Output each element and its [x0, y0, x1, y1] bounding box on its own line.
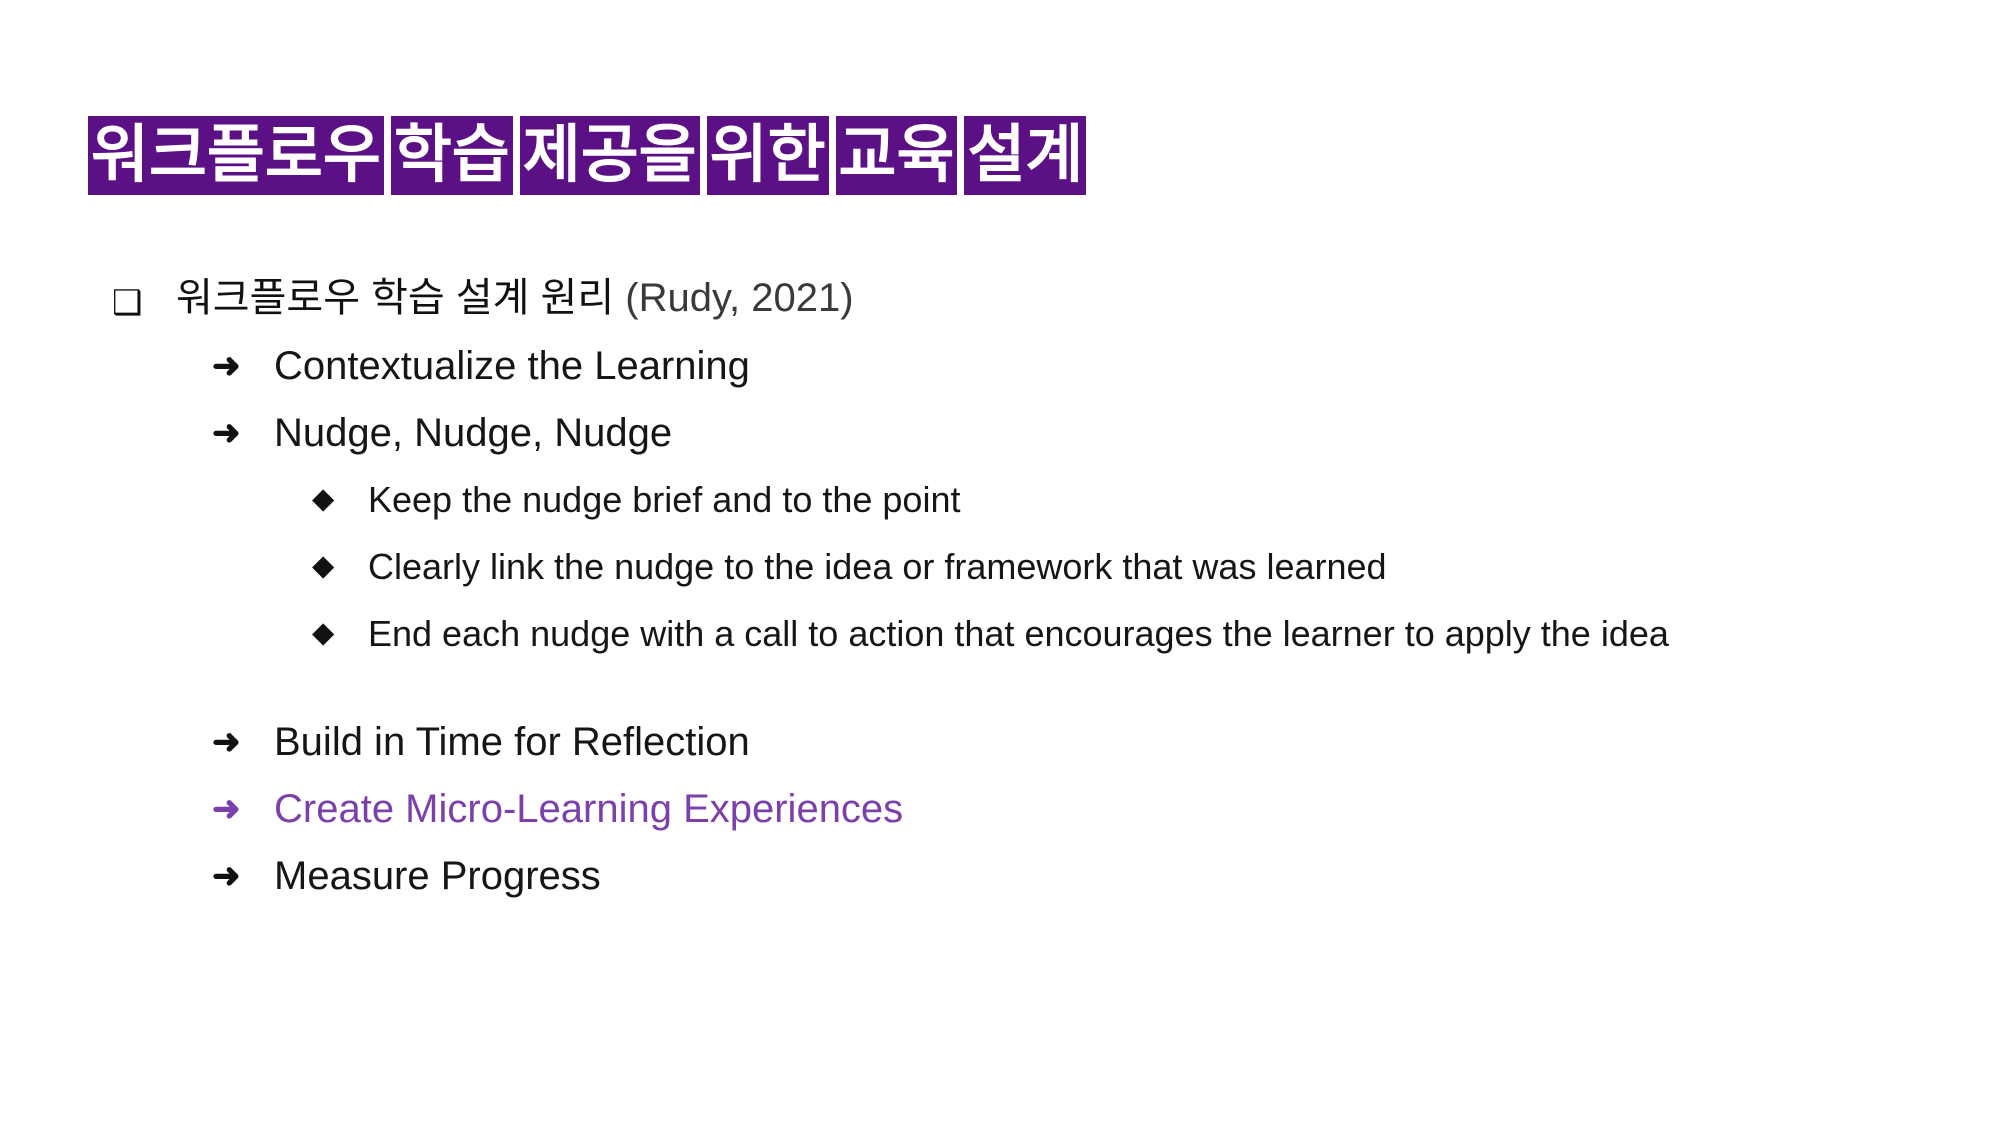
title-segment-2: 학습: [391, 116, 513, 195]
diamond-bullet-icon: ◆: [312, 472, 368, 527]
diamond-bullet-icon: ◆: [312, 606, 368, 661]
list-item-keep-the-nudge-brief: ◆ Keep the nudge brief and to the point: [0, 472, 2000, 539]
list-item-label: Nudge, Nudge, Nudge: [274, 405, 672, 462]
list-item-level1: ❑ 워크플로우 학습 설계 원리 (Rudy, 2021): [0, 268, 2000, 338]
title-segment-1: 워크플로우: [88, 116, 384, 195]
list-item-build-in-time-for-reflection: ➜ Build in Time for Reflection: [0, 714, 2000, 781]
list-item-label: Contextualize the Learning: [274, 338, 750, 395]
slide-body: ❑ 워크플로우 학습 설계 원리 (Rudy, 2021) ➜ Contextu…: [0, 268, 2000, 915]
right-arrow-bullet-icon: ➜: [212, 714, 274, 771]
page-title: 워크플로우학습제공을위한교육설계: [88, 113, 1086, 197]
hollow-square-bullet-icon: ❑: [112, 268, 176, 330]
list-item-label: Keep the nudge brief and to the point: [368, 472, 960, 527]
list-item-label: Create Micro-Learning Experiences: [274, 781, 903, 838]
right-arrow-bullet-icon: ➜: [212, 405, 274, 462]
list-item-label: Measure Progress: [274, 848, 601, 905]
title-segment-4: 위한: [707, 116, 829, 195]
list-item-end-each-nudge: ◆ End each nudge with a call to action t…: [0, 606, 2000, 714]
list-item-clearly-link-the-nudge: ◆ Clearly link the nudge to the idea or …: [0, 539, 2000, 606]
list-item-level1-label: 워크플로우 학습 설계 원리 (Rudy, 2021): [176, 268, 854, 328]
right-arrow-bullet-icon: ➜: [212, 848, 274, 905]
title-segment-5: 교육: [836, 116, 958, 195]
list-item-contextualize-the-learning: ➜ Contextualize the Learning: [0, 338, 2000, 405]
list-item-create-micro-learning-experiences: ➜ Create Micro-Learning Experiences: [0, 781, 2000, 848]
list-item-measure-progress: ➜ Measure Progress: [0, 848, 2000, 915]
title-segment-3: 제공을: [520, 116, 700, 195]
list-item-label: Build in Time for Reflection: [274, 714, 750, 771]
title-highlighted-text: 워크플로우학습제공을위한교육설계: [88, 113, 1086, 197]
level1-korean-text: 워크플로우 학습 설계 원리: [176, 276, 614, 320]
list-item-label: Clearly link the nudge to the idea or fr…: [368, 539, 1387, 594]
level1-citation: (Rudy, 2021): [625, 276, 853, 320]
right-arrow-bullet-icon: ➜: [212, 781, 274, 838]
list-item-label: End each nudge with a call to action tha…: [368, 606, 1669, 661]
diamond-bullet-icon: ◆: [312, 539, 368, 594]
list-item-nudge-nudge-nudge: ➜ Nudge, Nudge, Nudge: [0, 405, 2000, 472]
right-arrow-bullet-icon: ➜: [212, 338, 274, 395]
title-segment-6: 설계: [964, 116, 1086, 195]
slide-canvas: 워크플로우학습제공을위한교육설계 ❑ 워크플로우 학습 설계 원리 (Rudy,…: [0, 0, 2000, 1125]
